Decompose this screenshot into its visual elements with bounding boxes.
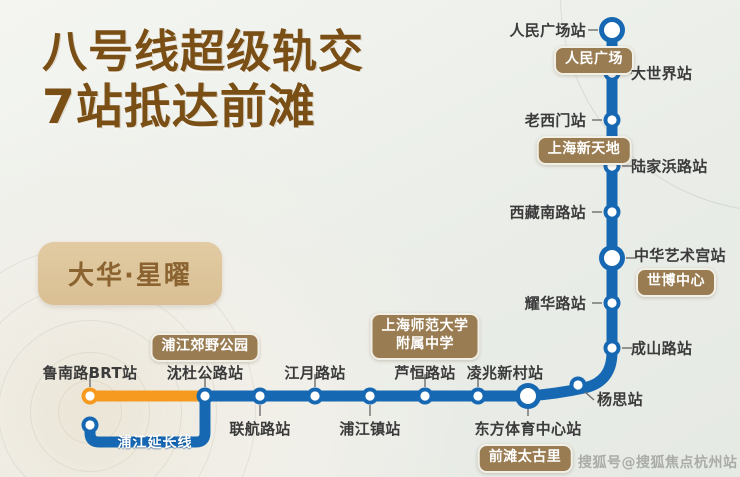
poi-badge-line: 浦江郊野公园	[162, 338, 249, 356]
station-marker[interactable]	[599, 17, 625, 43]
station-label-4: 西藏南路站	[509, 202, 586, 223]
poi-badge-h-7[interactable]: 前滩太古里	[478, 444, 573, 473]
station-center	[573, 380, 582, 389]
station-label-8: 杨思站	[597, 389, 643, 410]
station-marker[interactable]	[570, 377, 587, 394]
station-label-brt-0: 鲁南路BRT站	[43, 362, 138, 383]
station-center	[420, 391, 429, 400]
poi-badge-line: 前滩太古里	[489, 449, 562, 467]
poi-badge-line: 上海新天地	[548, 141, 621, 159]
station-marker[interactable]	[307, 388, 324, 405]
station-marker[interactable]	[252, 388, 269, 405]
station-marker[interactable]	[604, 295, 621, 312]
station-label-6: 耀华路站	[525, 293, 586, 314]
station-marker[interactable]	[362, 388, 379, 405]
station-marker[interactable]	[599, 245, 625, 271]
station-center	[310, 391, 319, 400]
poi-badge-line: 上海师范大学	[382, 318, 469, 336]
station-label-1: 大世界站	[631, 63, 692, 84]
station-marker[interactable]	[82, 388, 99, 405]
station-marker[interactable]	[604, 204, 621, 221]
station-label-h-2: 联航路站	[229, 418, 290, 439]
poi-badge-line: 人民广场	[565, 51, 623, 69]
station-center	[607, 207, 616, 216]
station-label-h-7: 东方体育中心站	[474, 418, 581, 439]
station-marker[interactable]	[470, 388, 487, 405]
station-center	[604, 22, 620, 38]
poi-badge-5[interactable]: 世博中心	[636, 268, 716, 297]
station-marker[interactable]	[604, 112, 621, 129]
station-markers	[82, 17, 626, 434]
poi-badge-line: 世博中心	[647, 273, 705, 291]
station-label-2: 老西门站	[525, 110, 586, 131]
station-center	[85, 391, 94, 400]
station-label-h-6: 凌兆新村站	[467, 362, 544, 383]
station-marker[interactable]	[197, 388, 214, 405]
station-center	[607, 115, 616, 124]
station-center	[607, 298, 616, 307]
station-marker[interactable]	[417, 388, 434, 405]
station-label-5: 中华艺术宫站	[634, 245, 726, 266]
station-center	[520, 388, 536, 404]
station-marker[interactable]	[82, 417, 99, 434]
station-marker[interactable]	[515, 383, 541, 409]
station-center	[365, 391, 374, 400]
station-center	[85, 420, 94, 429]
station-center	[604, 250, 620, 266]
station-label-h-4: 浦江镇站	[339, 418, 400, 439]
poi-badge-0[interactable]: 人民广场	[554, 46, 634, 75]
station-label-0: 人民广场站	[509, 20, 586, 41]
poi-badge-h-1[interactable]: 浦江郊野公园	[151, 333, 260, 362]
station-label-7: 成山路站	[631, 338, 692, 359]
station-label-h-3: 江月路站	[284, 362, 345, 383]
station-center	[255, 391, 264, 400]
poi-badge-line: 附属中学	[382, 336, 469, 354]
station-leader-tick	[585, 392, 594, 400]
track-name-pujiang-extension: 浦江延长线	[118, 432, 193, 452]
station-center	[607, 343, 616, 352]
watermark: 搜狐号@搜狐焦点杭州站	[578, 452, 738, 472]
station-marker[interactable]	[604, 340, 621, 357]
metro-map-poster: 八号线超级轨交 7站抵达前滩 大华·星曜 人民广场站人民广场大世界站老西门站上海…	[0, 0, 740, 477]
station-label-h-1: 沈杜公路站	[167, 362, 244, 383]
station-label-3: 陆家浜路站	[631, 156, 708, 177]
station-center	[473, 391, 482, 400]
station-center	[200, 391, 209, 400]
poi-badge-2[interactable]: 上海新天地	[537, 136, 632, 165]
station-label-h-5: 芦恒路站	[394, 362, 455, 383]
poi-badge-h-5[interactable]: 上海师范大学附属中学	[371, 313, 480, 360]
